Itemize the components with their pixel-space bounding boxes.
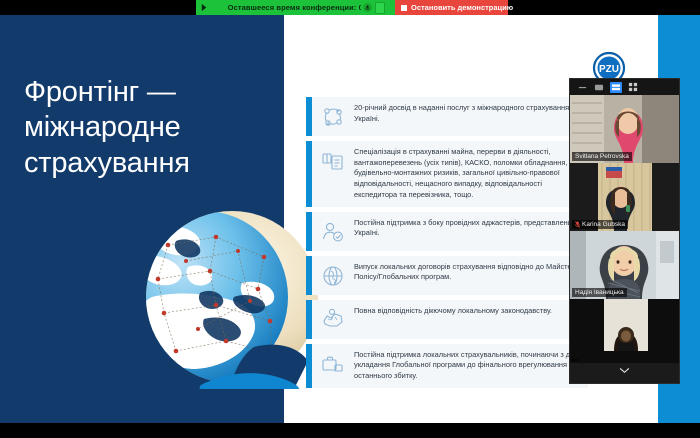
participant-name-label: Svitlana Petrovska — [572, 152, 632, 161]
participant-name-text: Karina Gubska — [582, 221, 625, 228]
stop-square-icon — [401, 5, 407, 11]
filmstrip-expand-button[interactable] — [570, 363, 679, 377]
mic-muted-icon — [575, 221, 580, 228]
participant-name-text: Надія Іваницька — [575, 289, 624, 296]
zoom-meeting-control-bar: Оставшееся время конференции: 01:39 Оста… — [0, 0, 700, 15]
participant-tile[interactable]: Надія Іваницька — [570, 231, 679, 299]
mute-icon[interactable] — [363, 3, 372, 12]
speaker-view-icon[interactable] — [593, 82, 605, 93]
bullet-item: Повна відповідність дікючому локальному … — [306, 300, 588, 339]
bullet-item: Спеціалізація в страхуванні майна, перер… — [306, 141, 588, 207]
record-icon — [196, 0, 212, 15]
zoom-screen-share-window: Оставшееся время конференции: 01:39 Оста… — [0, 0, 700, 438]
bullet-item: Випуск локальних договорів страхування в… — [306, 256, 588, 295]
documents-icon — [320, 148, 346, 174]
chevron-down-icon — [619, 361, 630, 379]
user-check-icon — [320, 219, 346, 245]
map-pin-icon — [320, 307, 346, 333]
network-nodes-icon — [320, 104, 346, 130]
filmstrip-view-toolbar — [570, 79, 679, 95]
participant-filmstrip-panel: Svitlana Petrovska Karina Gub — [569, 78, 680, 384]
bullet-item: 20-річний досвід в наданні послуг з міжн… — [306, 97, 588, 136]
bullet-text: Спеціалізація в страхуванні майна, перер… — [354, 147, 582, 201]
participant-name-label: Karina Gubska — [572, 220, 628, 229]
pause-icon[interactable] — [375, 2, 385, 14]
bullet-item: Постійна підтримка локальних страхувальн… — [306, 344, 588, 388]
svg-text:PZU: PZU — [599, 64, 619, 75]
participant-name-label — [572, 359, 578, 361]
participant-tile[interactable]: Karina Gubska — [570, 163, 679, 231]
stop-share-button[interactable]: Остановить демонстрацию — [395, 0, 508, 15]
bullet-text: Повна відповідність дікючому локальному … — [354, 306, 552, 317]
participant-name-label: Надія Іваницька — [572, 288, 627, 297]
participant-tile[interactable] — [570, 299, 679, 363]
bullet-item: Постійна підтримка з боку провідних аджа… — [306, 212, 588, 251]
participant-tile[interactable]: Svitlana Petrovska — [570, 95, 679, 163]
bullet-text: Постійна підтримка з боку провідних аджа… — [354, 218, 582, 239]
bullet-text: 20-річний досвід в наданні послуг з міжн… — [354, 103, 582, 124]
filmstrip-view-icon[interactable] — [610, 82, 622, 93]
minimize-icon[interactable] — [576, 82, 588, 93]
participant-name-text: Svitlana Petrovska — [575, 153, 629, 160]
globe-icon — [320, 263, 346, 289]
slide-title: Фронтінг — міжнародне страхування — [24, 75, 264, 181]
share-quick-controls[interactable] — [361, 0, 395, 15]
gallery-grid-icon[interactable] — [627, 82, 639, 93]
slide-bullet-list: 20-річний досвід в наданні послуг з міжн… — [306, 97, 588, 393]
bullet-text: Постійна підтримка локальних страхувальн… — [354, 350, 582, 382]
bullet-text: Випуск локальних договорів страхування в… — [354, 262, 582, 283]
window-bottom-bar — [0, 423, 700, 438]
stop-share-label: Остановить демонстрацию — [411, 3, 513, 12]
briefcase-icon — [320, 351, 346, 377]
